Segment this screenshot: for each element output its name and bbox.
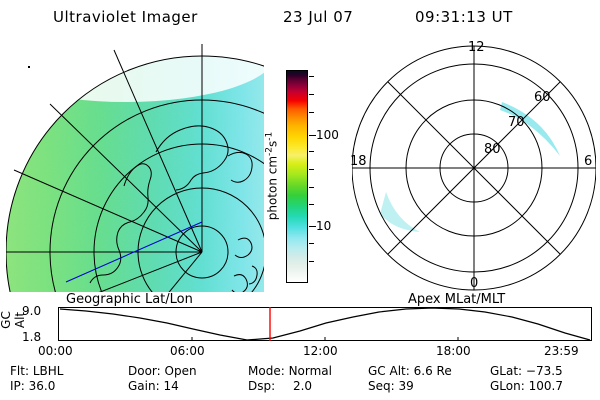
- colorbar-major-tick-100: [309, 135, 316, 136]
- mlat-label-80: 80: [484, 142, 501, 157]
- orbit-xlabel-4: 23:59: [544, 344, 579, 358]
- colorbar-tick: [309, 94, 314, 95]
- mlat-label-70: 70: [508, 115, 525, 130]
- status-mode-value: Normal: [289, 364, 332, 378]
- status-dsp-label: Dsp:: [248, 379, 275, 393]
- status-gain-label: Gain:: [128, 379, 160, 393]
- mlat-label-60: 60: [534, 90, 551, 105]
- status-seq-value: 39: [399, 379, 414, 393]
- orbit-xlabel-3: 18:00: [436, 344, 471, 358]
- globe-canvas: [6, 44, 264, 292]
- colorbar-tick: [309, 204, 314, 205]
- geographic-image-panel: [6, 44, 264, 292]
- orbit-xlabel-0: 00:00: [38, 344, 73, 358]
- status-row-1: Flt: LBHL Door: Open Mode: Normal GC Alt…: [0, 364, 600, 379]
- observation-date: 23 Jul 07: [283, 8, 353, 26]
- status-glon-value: 100.7: [529, 379, 563, 393]
- colorbar-axis-exp1: -2: [265, 147, 275, 156]
- colorbar: 100 10 photon cm-2s-1: [286, 70, 310, 285]
- status-mode: Mode: Normal: [248, 364, 332, 379]
- status-ip: IP: 36.0: [10, 379, 55, 394]
- orbit-xlabel-1: 06:00: [170, 344, 205, 358]
- status-glat-value: −73.5: [526, 364, 563, 378]
- status-seq-label: Seq:: [368, 379, 395, 393]
- status-filter: Flt: LBHL: [10, 364, 63, 379]
- colorbar-major-tick-10: [309, 226, 316, 227]
- orbit-altitude-plot: [58, 307, 592, 341]
- corner-tick: [28, 66, 30, 68]
- polar-grid: [352, 46, 596, 290]
- mlt-label-6: 6: [584, 154, 592, 169]
- status-dsp-value: 2.0: [293, 379, 312, 393]
- colorbar-tick: [309, 261, 314, 262]
- status-glat-label: GLat:: [490, 364, 522, 378]
- colorbar-axis-label-s: s: [266, 141, 280, 147]
- status-gcalt: GC Alt: 6.6 Re: [368, 364, 452, 379]
- orbit-ytick-low: 1.8: [22, 331, 41, 343]
- orbit-ylabel: GC Alt: [4, 306, 22, 334]
- observation-time: 09:31:13 UT: [415, 8, 513, 26]
- colorbar-label-10: 10: [316, 220, 331, 232]
- status-filter-label: Flt:: [10, 364, 29, 378]
- status-seq: Seq: 39: [368, 379, 414, 394]
- colorbar-gradient: [286, 70, 308, 283]
- status-block: Flt: LBHL Door: Open Mode: Normal GC Alt…: [0, 364, 600, 394]
- status-gcalt-label: GC Alt:: [368, 364, 410, 378]
- orbit-ytick-high: 9.0: [22, 305, 41, 317]
- orbit-plot-frame: [59, 308, 592, 341]
- colorbar-axis-label-text: photon cm: [266, 156, 280, 220]
- status-gain: Gain: 14: [128, 379, 179, 394]
- status-door: Door: Open: [128, 364, 197, 379]
- status-dsp: Dsp: 2.0: [248, 379, 312, 394]
- polar-plot-svg: [352, 42, 596, 294]
- colorbar-tick: [309, 243, 314, 244]
- orbit-title-apex: Apex MLat/MLT: [408, 292, 505, 307]
- status-gcalt-value: 6.6 Re: [414, 364, 452, 378]
- orbit-xlabel-2: 12:00: [303, 344, 338, 358]
- status-ip-value: 36.0: [29, 379, 56, 393]
- colorbar-label-100: 100: [316, 129, 339, 141]
- mlt-label-0: 0: [470, 276, 478, 291]
- mlt-label-12: 12: [468, 40, 485, 55]
- colorbar-tick: [309, 112, 314, 113]
- orbit-plot-svg: [58, 307, 592, 341]
- apex-polar-panel: 12 18 6 0 60 70 80: [352, 42, 596, 294]
- instrument-title: Ultraviolet Imager: [53, 8, 198, 26]
- status-glon-label: GLon:: [490, 379, 525, 393]
- mlt-label-18: 18: [350, 154, 367, 169]
- colorbar-axis-exp2: -1: [265, 132, 275, 141]
- status-filter-value: LBHL: [33, 364, 64, 378]
- status-gain-value: 14: [163, 379, 178, 393]
- colorbar-axis-label: photon cm-2s-1: [265, 132, 280, 221]
- colorbar-tick: [309, 169, 314, 170]
- colorbar-tick: [309, 151, 314, 152]
- status-door-label: Door:: [128, 364, 161, 378]
- status-ip-label: IP:: [10, 379, 25, 393]
- ultraviolet-imager-window: Ultraviolet Imager 23 Jul 07 09:31:13 UT: [0, 0, 600, 400]
- globe-svg: [6, 44, 264, 292]
- status-door-value: Open: [165, 364, 197, 378]
- auroral-oval-extension: [380, 102, 560, 232]
- status-mode-label: Mode:: [248, 364, 285, 378]
- orbit-title-geographic: Geographic Lat/Lon: [66, 292, 193, 307]
- colorbar-tick: [309, 76, 314, 77]
- status-row-2: IP: 36.0 Gain: 14 Dsp: 2.0 Seq: 39 GLon:…: [0, 379, 600, 394]
- status-glat: GLat: −73.5: [490, 364, 563, 379]
- colorbar-tick: [309, 187, 314, 188]
- status-glon: GLon: 100.7: [490, 379, 563, 394]
